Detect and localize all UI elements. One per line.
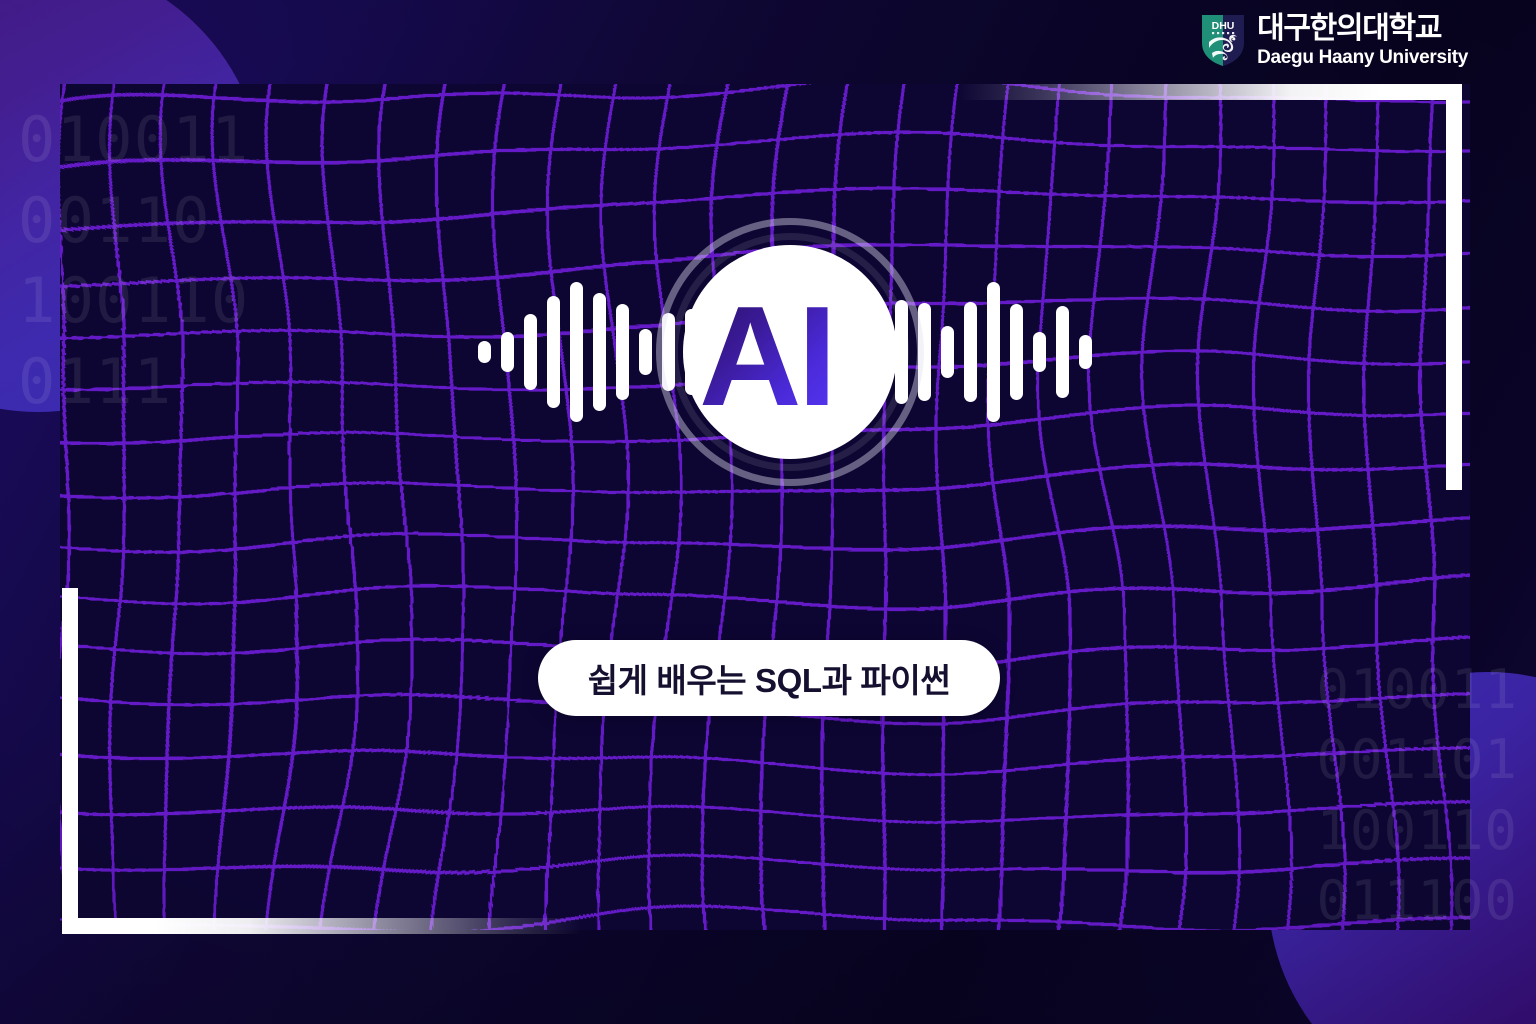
waveform-bar	[547, 296, 560, 408]
waveform-bar	[987, 282, 1000, 422]
university-name-block: 대구한의대학교 Daegu Haany University	[1257, 14, 1468, 67]
waveform-bar	[964, 302, 977, 402]
waveform-bar	[1033, 332, 1046, 372]
waveform-bar	[639, 329, 652, 375]
course-title-pill: 쉽게 배우는 SQL과 파이썬	[538, 640, 1000, 716]
course-title-text: 쉽게 배우는 SQL과 파이썬	[588, 654, 951, 702]
university-logo: DHU 대구한의대학교 Daegu Haany University	[1200, 12, 1468, 68]
banner-canvas: 010011 00110 100110 0111 010011 001101 1…	[0, 0, 1536, 1024]
corner-bracket-bottom-left-vertical	[62, 588, 78, 934]
waveform-bar	[1079, 335, 1092, 369]
waveform-bar	[478, 341, 491, 363]
corner-bracket-top-right-vertical	[1446, 84, 1462, 490]
binary-code-top-left: 010011 00110 100110 0111	[18, 100, 249, 422]
binary-code-bottom-right: 010011 001101 100110 011100	[1316, 655, 1518, 936]
waveform-bar	[1056, 306, 1069, 398]
waveform-bar	[570, 282, 583, 422]
university-name-english: Daegu Haany University	[1257, 48, 1468, 67]
waveform-bar	[501, 332, 514, 372]
ai-text-glyph: AI	[699, 292, 833, 412]
corner-bracket-bottom-left-horizontal	[62, 918, 582, 934]
waveform-bar	[524, 314, 537, 390]
dhu-shield-icon: DHU	[1200, 12, 1246, 68]
university-name-korean: 대구한의대학교	[1257, 14, 1441, 44]
waveform-bar	[941, 326, 954, 378]
ai-badge: AI	[656, 218, 924, 486]
waveform-bar	[616, 304, 629, 400]
shield-wordmark: DHU	[1212, 20, 1235, 32]
ai-disc: AI	[683, 245, 897, 459]
waveform-bar	[593, 293, 606, 411]
waveform-bar	[1010, 304, 1023, 400]
corner-bracket-top-right-horizontal	[958, 84, 1462, 100]
